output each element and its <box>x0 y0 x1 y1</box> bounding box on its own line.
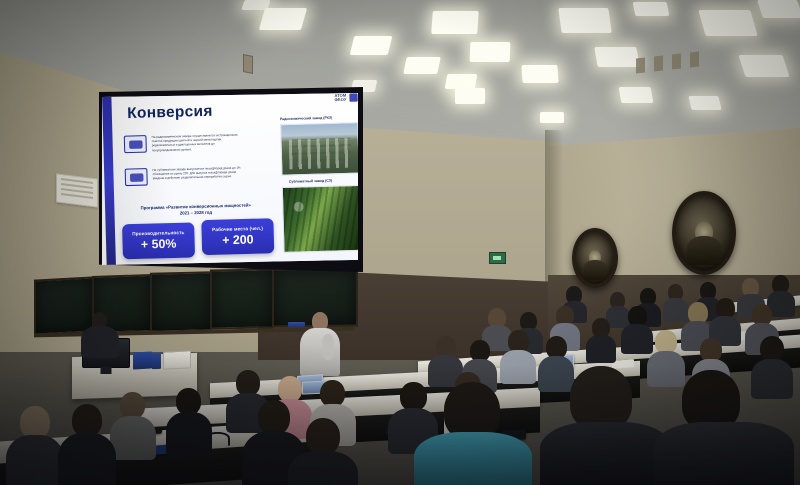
ceiling-light <box>619 87 654 103</box>
stat-label: Производительность <box>132 230 184 237</box>
slide-program-heading: Программа «Развитие конверсионных мощнос… <box>118 202 273 218</box>
emergency-exit-sign <box>489 252 506 264</box>
lecture-hall-photo: Конверсия АТОМ ФЕОУ На радиохимическом з… <box>0 0 800 485</box>
vent-slot <box>654 56 663 72</box>
ceiling-light <box>431 11 479 34</box>
plant-badge-icon <box>125 168 148 186</box>
photo-caption-rhz: Радиохимический завод (РХЗ) <box>280 116 332 122</box>
ceiling-light <box>558 8 612 33</box>
equipment-box-blue <box>152 353 161 369</box>
ceiling-light <box>455 88 485 104</box>
presentation-display[interactable]: Конверсия АТОМ ФЕОУ На радиохимическом з… <box>99 87 363 272</box>
ceiling-light <box>241 0 270 10</box>
blackboard <box>210 268 274 329</box>
photo-caption-sz: Сублиматный завод (СЗ) <box>289 178 332 183</box>
ceiling-light <box>403 57 441 74</box>
portrait-bust <box>687 236 722 265</box>
ceiling-light <box>259 8 307 30</box>
wall-notice-sign <box>56 173 98 207</box>
factory-badge-icon <box>124 135 147 153</box>
stat-label: Рабочие места (чел.) <box>212 226 263 233</box>
slide-bullet-2-text: На сублиматном заводе выпускается гексаф… <box>152 165 241 180</box>
stat-box-productivity: Производительность + 50% <box>122 222 195 259</box>
tv-screen: Конверсия АТОМ ФЕОУ На радиохимическом з… <box>102 93 358 265</box>
slide-bullet-2: На сублиматном заводе выпускается гексаф… <box>125 165 242 186</box>
portrait-bust <box>583 260 607 280</box>
stat-value: + 200 <box>222 232 254 247</box>
photo-sz <box>282 185 358 253</box>
torso <box>414 432 532 485</box>
ceiling-light <box>470 42 511 62</box>
slide-title: Конверсия <box>127 102 213 122</box>
portrait-left <box>572 228 618 288</box>
rail-marker-box <box>288 322 305 327</box>
photo-rhz <box>280 122 358 176</box>
slide-logo: АТОМ ФЕОУ <box>334 93 357 102</box>
ceiling-light <box>445 74 478 89</box>
slide-logo-line2: ФЕОУ <box>334 98 346 103</box>
stat-box-jobs: Рабочие места (чел.) + 200 <box>201 218 274 255</box>
ceiling-light <box>688 96 721 110</box>
slide-bullet-1: На радиохимическом заводе осуществляется… <box>124 133 241 154</box>
slide-bullet-1-text: На радиохимическом заводе осуществляется… <box>152 133 241 153</box>
head <box>682 370 740 430</box>
equipment-box-blue <box>133 352 152 370</box>
ceiling-light <box>633 2 670 16</box>
torso <box>81 326 119 358</box>
blackboard <box>150 271 212 333</box>
ceiling-speaker <box>243 54 253 74</box>
ceiling-light <box>698 10 757 36</box>
slide: Конверсия АТОМ ФЕОУ На радиохимическом з… <box>102 93 358 265</box>
slide-accent-stripe <box>102 93 116 265</box>
torso <box>540 422 672 485</box>
stat-value: + 50% <box>141 236 177 251</box>
equipment-box-white <box>163 350 191 369</box>
rosatom-mark-icon <box>349 93 357 101</box>
ceiling-light <box>540 112 564 123</box>
ceiling-light <box>521 65 558 83</box>
arm <box>322 334 334 360</box>
vent-slot <box>672 54 681 70</box>
ceiling-light <box>757 0 800 18</box>
torso <box>300 328 340 376</box>
ceiling-light <box>738 55 789 77</box>
slide-logo-text: АТОМ ФЕОУ <box>334 94 346 103</box>
vent-slot <box>690 52 699 68</box>
ceiling-light <box>594 47 640 67</box>
torso <box>654 422 794 485</box>
portrait-right <box>672 191 736 275</box>
ceiling-light <box>350 36 393 55</box>
head <box>570 366 632 430</box>
vent-slot <box>636 58 645 74</box>
blackboard <box>34 276 94 335</box>
